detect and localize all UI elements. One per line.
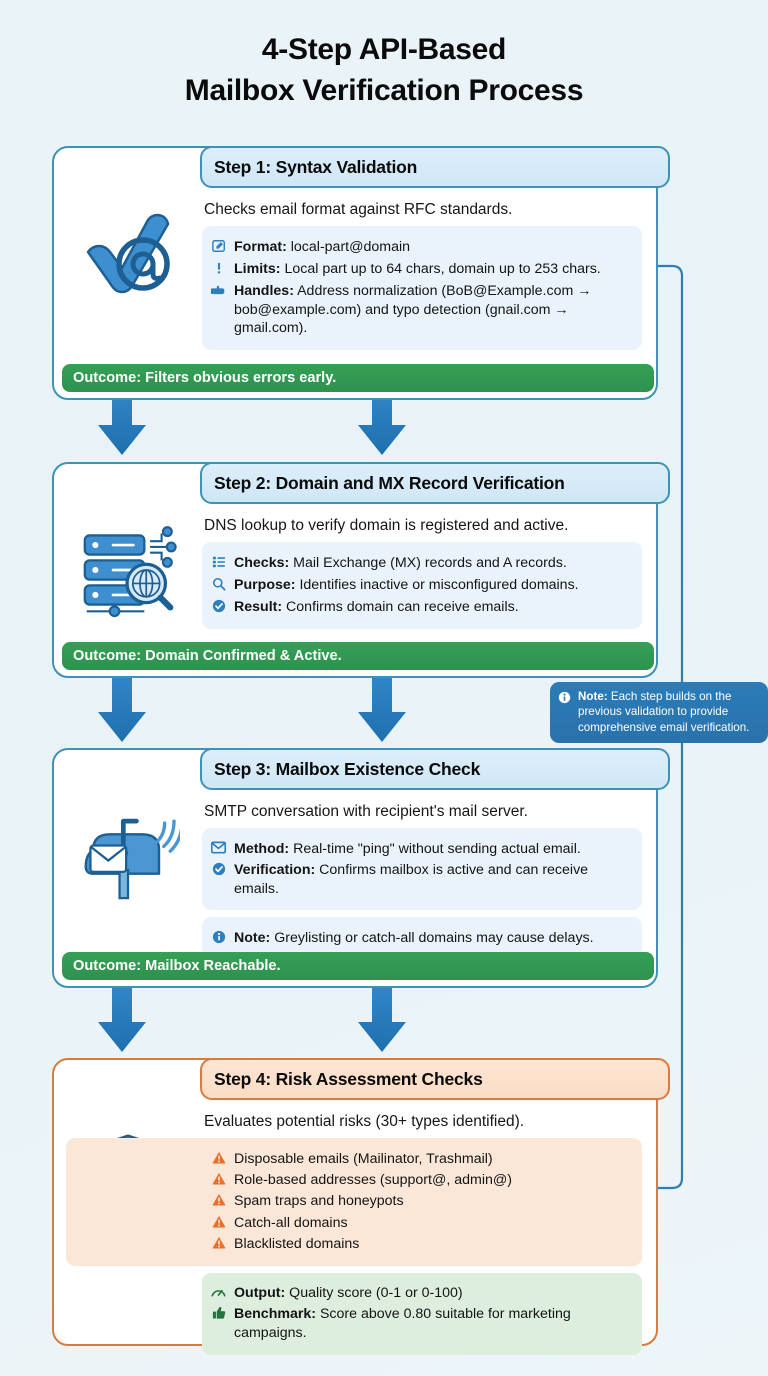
check-circle-icon [210, 861, 227, 881]
title-line-1: 4-Step API-Based [0, 30, 768, 71]
detail-row: Purpose: Identifies inactive or misconfi… [210, 576, 632, 596]
thumbs-up-icon [210, 1305, 227, 1325]
risk-item: Spam traps and honeypots [210, 1192, 632, 1211]
step-3-detail-panel: Method: Real-time "ping" without sending… [202, 828, 642, 910]
detail-text: Format: local-part@domain [234, 238, 410, 257]
mailbox-signal-icon [76, 808, 180, 900]
arrow-step1-to-step2-right [358, 392, 406, 455]
detail-text: Result: Confirms domain can receive emai… [234, 598, 519, 617]
detail-row: Handles: Address normalization (BoB@Exam… [210, 282, 632, 339]
warning-triangle-icon [210, 1192, 227, 1211]
step-2-detail-panel: Checks: Mail Exchange (MX) records and A… [202, 542, 642, 629]
info-circle-icon [210, 929, 227, 949]
warning-triangle-icon [210, 1235, 227, 1254]
risk-text: Catch-all domains [234, 1214, 348, 1233]
detail-text: Output: Quality score (0-1 or 0-100) [234, 1284, 463, 1303]
step-1-header: Step 1: Syntax Validation [200, 146, 670, 188]
risk-item: Catch-all domains [210, 1214, 632, 1233]
detail-row: Checks: Mail Exchange (MX) records and A… [210, 554, 632, 574]
detail-text: Note: Greylisting or catch-all domains m… [234, 929, 594, 948]
risk-text: Blacklisted domains [234, 1235, 359, 1254]
warning-triangle-icon [210, 1171, 227, 1190]
arrow-step1-to-step2-left [98, 392, 146, 455]
detail-text: Verification: Confirms mailbox is active… [234, 861, 632, 899]
step-1-icon-col [54, 148, 202, 398]
pointing-hand-icon [210, 282, 227, 302]
arrow-step3-to-step4-left [98, 988, 146, 1052]
risk-item: Blacklisted domains [210, 1235, 632, 1254]
note-callout: Note: Each step builds on the previous v… [550, 682, 768, 743]
detail-text: Benchmark: Score above 0.80 suitable for… [234, 1305, 632, 1343]
risk-text: Disposable emails (Mailinator, Trashmail… [234, 1150, 493, 1169]
step-4-header-text: Step 4: Risk Assessment Checks [214, 1069, 483, 1090]
arrow-step2-to-step3-left [98, 678, 146, 742]
check-circle-icon [210, 598, 227, 618]
step-4-output-panel: Output: Quality score (0-1 or 0-100) Ben… [202, 1273, 642, 1355]
magnifier-icon [210, 576, 227, 596]
detail-text: Handles: Address normalization (BoB@Exam… [234, 282, 632, 339]
step-2-outcome-banner: Outcome: Domain Confirmed & Active. [62, 642, 654, 670]
step-4-header: Step 4: Risk Assessment Checks [200, 1058, 670, 1100]
detail-row: Result: Confirms domain can receive emai… [210, 598, 632, 618]
risk-text: Spam traps and honeypots [234, 1192, 404, 1211]
risk-text: Role-based addresses (support@, admin@) [234, 1171, 512, 1190]
step-3-outcome-banner: Outcome: Mailbox Reachable. [62, 952, 654, 980]
exclamation-icon [210, 260, 227, 280]
checkmark-at-symbol-icon [80, 210, 176, 296]
step-2-header: Step 2: Domain and MX Record Verificatio… [200, 462, 670, 504]
envelope-icon [210, 840, 227, 859]
detail-row: Note: Greylisting or catch-all domains m… [210, 929, 632, 949]
list-records-icon [210, 554, 227, 574]
step-1-detail-panel: Format: local-part@domain Limits: Local … [202, 226, 642, 350]
step-3-header-text: Step 3: Mailbox Existence Check [214, 759, 480, 780]
detail-text: Checks: Mail Exchange (MX) records and A… [234, 554, 567, 573]
warning-triangle-icon [210, 1150, 227, 1169]
step-1-header-text: Step 1: Syntax Validation [214, 157, 417, 178]
gauge-icon [210, 1284, 227, 1303]
warning-triangle-icon [210, 1214, 227, 1233]
risk-item: Role-based addresses (support@, admin@) [210, 1171, 632, 1190]
detail-row: Method: Real-time "ping" without sending… [210, 840, 632, 859]
arrow-step2-to-step3-right [358, 678, 406, 742]
info-circle-icon [558, 689, 572, 709]
step-3-header: Step 3: Mailbox Existence Check [200, 748, 670, 790]
detail-row: Verification: Confirms mailbox is active… [210, 861, 632, 899]
note-text: Note: Each step builds on the previous v… [578, 689, 759, 735]
detail-text: Limits: Local part up to 64 chars, domai… [234, 260, 601, 279]
step-card-4[interactable]: Step 4: Risk Assessment Checks Evaluates… [52, 1058, 658, 1346]
detail-row: Format: local-part@domain [210, 238, 632, 258]
detail-text: Purpose: Identifies inactive or misconfi… [234, 576, 579, 595]
detail-text: Method: Real-time "ping" without sending… [234, 840, 581, 859]
step-card-2[interactable]: Step 2: Domain and MX Record Verificatio… [52, 462, 658, 678]
step-2-header-text: Step 2: Domain and MX Record Verificatio… [214, 473, 565, 494]
step-1-outcome-banner: Outcome: Filters obvious errors early. [62, 364, 654, 392]
step-card-1[interactable]: Step 1: Syntax Validation Checks email f… [52, 146, 658, 400]
step-card-3[interactable]: Step 3: Mailbox Existence Check SMTP con… [52, 748, 658, 988]
arrow-step3-to-step4-right [358, 988, 406, 1052]
step-3-icon-col [54, 750, 202, 986]
title-line-2: Mailbox Verification Process [0, 71, 768, 112]
detail-row: Benchmark: Score above 0.80 suitable for… [210, 1305, 632, 1343]
detail-row: Output: Quality score (0-1 or 0-100) [210, 1284, 632, 1303]
page-title: 4-Step API-Based Mailbox Verification Pr… [0, 0, 768, 111]
server-globe-magnifier-icon [75, 522, 181, 618]
risk-item: Disposable emails (Mailinator, Trashmail… [210, 1150, 632, 1169]
pencil-edit-icon [210, 238, 227, 258]
step-4-risk-panel: Disposable emails (Mailinator, Trashmail… [66, 1138, 642, 1265]
detail-row: Limits: Local part up to 64 chars, domai… [210, 260, 632, 280]
